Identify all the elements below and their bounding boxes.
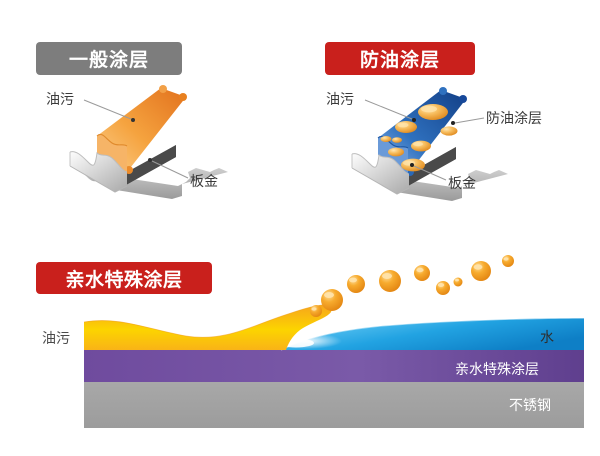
panel-title-oilproof-coating: 防油涂层 [325,42,475,75]
oil-droplet-trail [310,255,514,317]
diagram-canvas: 一般涂层 防油涂层 亲水特殊涂层 油污 板金 油污 防油涂层 板金 油污 水 亲… [0,0,600,456]
panel-title-hydrophilic-coating: 亲水特殊涂层 [36,262,212,294]
label-general-oil-stain: 油污 [46,92,74,106]
label-cross-section-water: 水 [540,330,554,344]
label-general-sheet-metal: 板金 [190,174,218,188]
label-oilproof-sheet-metal: 板金 [448,176,476,190]
label-cross-section-steel: 不锈钢 [509,398,551,412]
panel-title-general-coating: 一般涂层 [36,42,182,75]
label-cross-section-coating: 亲水特殊涂层 [455,362,539,376]
label-cross-section-oil: 油污 [42,331,70,345]
label-oilproof-coating: 防油涂层 [486,111,542,125]
label-oilproof-oil-stain: 油污 [326,92,354,106]
